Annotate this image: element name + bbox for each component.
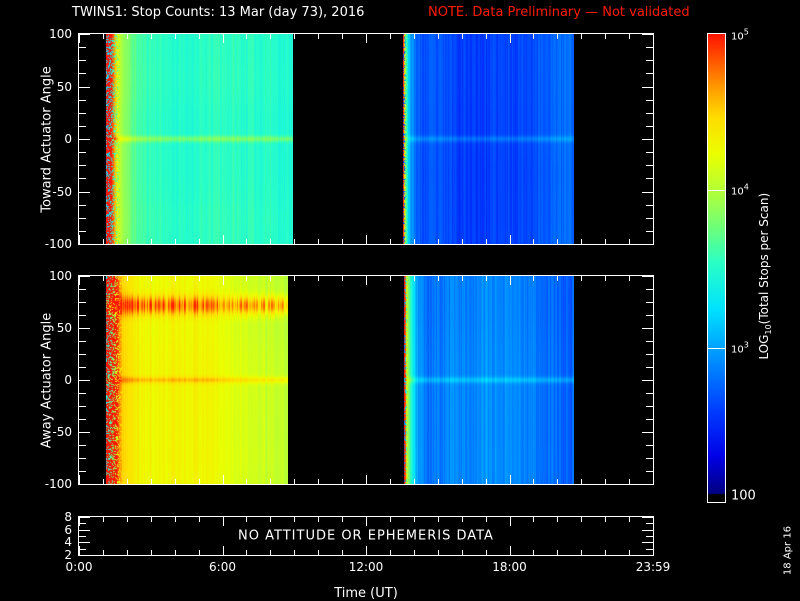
x-axis-tick-minor (103, 550, 104, 555)
y-axis-tick-minor (646, 152, 653, 153)
x-axis-tick-label: 18:00 (492, 560, 527, 574)
x-axis-tick-minor (294, 239, 295, 244)
x-axis-tick-minor (462, 34, 463, 39)
x-axis-tick-minor (270, 479, 271, 484)
x-axis-tick-major (223, 276, 224, 285)
x-axis-tick-label: 12:00 (349, 560, 384, 574)
y-axis-tick-major (642, 380, 653, 381)
x-axis-tick-minor (103, 479, 104, 484)
y-axis-tick-major (79, 34, 90, 35)
y-axis-tick-major (642, 484, 653, 485)
x-axis-tick-minor (127, 517, 128, 522)
x-axis-tick-minor (605, 34, 606, 39)
x-axis-tick-minor (605, 276, 606, 281)
x-axis-tick-major (79, 276, 80, 285)
x-axis-tick-minor (199, 479, 200, 484)
y-axis-tick-minor (646, 231, 653, 232)
x-axis-tick-minor (605, 479, 606, 484)
x-axis-tick-minor (533, 34, 534, 39)
y-axis-tick-minor (79, 406, 86, 407)
y-axis-tick-major (79, 244, 90, 245)
panel-away (78, 275, 654, 485)
x-axis-tick-major (510, 276, 511, 285)
y-axis-tick-minor (79, 393, 86, 394)
y-axis-tick-label: 100 (32, 269, 72, 283)
y-axis-tick-minor (79, 445, 86, 446)
x-axis-tick-major (366, 235, 367, 244)
x-axis-tick-major (366, 517, 367, 526)
x-axis-tick-minor (151, 517, 152, 522)
x-axis-tick-minor (533, 276, 534, 281)
colorbar-tick-label: 104 (731, 183, 749, 198)
x-axis-tick-major (79, 475, 80, 484)
x-axis-tick-minor (175, 550, 176, 555)
colorbar-tick-label: 103 (731, 341, 749, 356)
y-axis-tick-minor (79, 458, 86, 459)
colorbar-tick-label: 105 (731, 28, 749, 43)
y-axis-tick-label: -50 (32, 185, 72, 199)
x-axis-tick-minor (533, 550, 534, 555)
y-axis-tick-major (642, 328, 653, 329)
x-axis-tick-minor (246, 479, 247, 484)
y-axis-tick-minor (646, 113, 653, 114)
colorbar-title-rest: (Total Stops per Scan) (757, 193, 771, 324)
x-axis-tick-minor (151, 239, 152, 244)
x-axis-tick-minor (629, 550, 630, 555)
y-axis-tick-major (642, 139, 653, 140)
y-axis-tick-major (79, 517, 90, 518)
y-axis-tick-minor (646, 73, 653, 74)
x-axis-tick-label: 23:59 (636, 560, 671, 574)
x-axis-tick-minor (557, 550, 558, 555)
panel-attitude-strip: NO ATTITUDE OR EPHEMERIS DATA (78, 516, 654, 556)
x-axis-tick-minor (581, 239, 582, 244)
y-axis-tick-major (642, 517, 653, 518)
y-axis-tick-minor (79, 419, 86, 420)
x-axis-tick-minor (438, 517, 439, 522)
x-axis-tick-minor (581, 550, 582, 555)
x-axis-tick-minor (438, 239, 439, 244)
y-axis-tick-minor (646, 126, 653, 127)
x-axis-tick-minor (581, 517, 582, 522)
x-axis-tick-major (223, 475, 224, 484)
y-axis-tick-minor (646, 315, 653, 316)
x-axis-tick-major (653, 235, 654, 244)
y-axis-tick-minor (646, 471, 653, 472)
x-axis-tick-minor (246, 517, 247, 522)
y-axis-tick-minor (79, 218, 86, 219)
x-axis-tick-major (223, 34, 224, 43)
colorbar (707, 33, 726, 503)
x-axis-tick-minor (414, 479, 415, 484)
x-axis-tick-minor (533, 479, 534, 484)
x-axis-tick-minor (414, 239, 415, 244)
x-axis-tick-major (510, 34, 511, 43)
x-axis-tick-minor (438, 276, 439, 281)
x-axis-tick-minor (486, 479, 487, 484)
x-axis-tick-minor (294, 479, 295, 484)
x-axis-tick-major (653, 34, 654, 43)
x-axis-tick-minor (151, 276, 152, 281)
y-axis-tick-major (79, 484, 90, 485)
y-axis-tick-minor (79, 178, 86, 179)
x-axis-tick-major (510, 235, 511, 244)
strip-message: NO ATTITUDE OR EPHEMERIS DATA (238, 529, 494, 544)
x-axis-tick-minor (390, 479, 391, 484)
y-axis-tick-major (79, 276, 90, 277)
x-axis-tick-minor (462, 239, 463, 244)
x-axis-tick-minor (199, 517, 200, 522)
spectrogram-block (404, 276, 574, 484)
x-axis-tick-minor (246, 34, 247, 39)
y-axis-tick-major (79, 139, 90, 140)
x-axis-tick-minor (581, 276, 582, 281)
date-stamp: 18 Apr 16 (783, 511, 794, 591)
y-axis-tick-label: -50 (32, 425, 72, 439)
y-axis-tick-minor (646, 60, 653, 61)
x-axis-tick-minor (270, 517, 271, 522)
x-axis-tick-minor (557, 239, 558, 244)
y-axis-tick-minor (646, 393, 653, 394)
x-axis-tick-minor (629, 479, 630, 484)
y-axis-tick-minor (646, 523, 653, 524)
y-axis-tick-label: 0 (32, 373, 72, 387)
x-axis-tick-minor (175, 276, 176, 281)
x-axis-tick-minor (557, 517, 558, 522)
x-axis-tick-minor (318, 239, 319, 244)
x-axis-tick-major (653, 546, 654, 555)
x-axis-tick-minor (414, 517, 415, 522)
y-axis-tick-minor (646, 419, 653, 420)
x-axis-tick-minor (629, 239, 630, 244)
x-axis-tick-minor (342, 276, 343, 281)
x-axis-tick-major (223, 235, 224, 244)
spectrogram-block (106, 34, 293, 244)
x-axis-tick-minor (414, 34, 415, 39)
y-axis-tick-major (79, 328, 90, 329)
xaxis-label: Time (UT) (334, 586, 398, 601)
x-axis-tick-minor (462, 479, 463, 484)
x-axis-tick-major (223, 546, 224, 555)
y-axis-tick-label: 2 (52, 548, 72, 562)
x-axis-tick-minor (390, 276, 391, 281)
x-axis-tick-major (223, 517, 224, 526)
x-axis-tick-minor (294, 276, 295, 281)
y-axis-tick-minor (79, 152, 86, 153)
x-axis-tick-minor (199, 550, 200, 555)
y-axis-tick-major (642, 87, 653, 88)
y-axis-tick-minor (646, 302, 653, 303)
y-axis-tick-label: 50 (32, 80, 72, 94)
page-title: TWINS1: Stop Counts: 13 Mar (day 73), 20… (72, 5, 364, 20)
x-axis-tick-minor (414, 550, 415, 555)
x-axis-tick-minor (462, 517, 463, 522)
x-axis-tick-minor (629, 34, 630, 39)
x-axis-tick-minor (605, 239, 606, 244)
y-axis-tick-minor (79, 60, 86, 61)
y-axis-tick-minor (646, 165, 653, 166)
x-axis-tick-minor (557, 479, 558, 484)
x-axis-tick-minor (199, 239, 200, 244)
x-axis-tick-major (366, 546, 367, 555)
x-axis-tick-major (79, 546, 80, 555)
y-axis-tick-major (79, 192, 90, 193)
y-axis-tick-minor (646, 178, 653, 179)
y-axis-tick-minor (79, 549, 86, 550)
x-axis-tick-minor (246, 239, 247, 244)
y-axis-tick-minor (79, 302, 86, 303)
y-axis-tick-minor (646, 205, 653, 206)
y-axis-tick-minor (646, 47, 653, 48)
x-axis-tick-minor (270, 550, 271, 555)
x-axis-tick-minor (629, 517, 630, 522)
x-axis-tick-minor (103, 517, 104, 522)
x-axis-tick-minor (127, 34, 128, 39)
x-axis-tick-minor (533, 517, 534, 522)
x-axis-tick-minor (557, 34, 558, 39)
y-axis-tick-label: 0 (32, 132, 72, 146)
x-axis-tick-minor (318, 34, 319, 39)
x-axis-tick-minor (175, 239, 176, 244)
colorbar-tick-label: 100 (731, 489, 756, 504)
x-axis-tick-major (79, 517, 80, 526)
x-axis-tick-minor (127, 276, 128, 281)
x-axis-tick-minor (390, 239, 391, 244)
x-axis-tick-minor (581, 34, 582, 39)
y-axis-tick-label: 100 (32, 27, 72, 41)
x-axis-tick-minor (318, 517, 319, 522)
x-axis-tick-minor (486, 34, 487, 39)
x-axis-tick-minor (318, 276, 319, 281)
y-axis-tick-minor (79, 47, 86, 48)
y-axis-tick-minor (79, 113, 86, 114)
spectrogram-block (403, 34, 574, 244)
x-axis-tick-minor (270, 276, 271, 281)
y-axis-tick-minor (79, 523, 86, 524)
y-axis-tick-minor (646, 458, 653, 459)
y-axis-tick-major (642, 555, 653, 556)
x-axis-tick-minor (175, 479, 176, 484)
y-axis-tick-minor (646, 367, 653, 368)
x-axis-tick-minor (103, 34, 104, 39)
x-axis-tick-minor (557, 276, 558, 281)
x-axis-tick-minor (175, 34, 176, 39)
x-axis-tick-minor (486, 239, 487, 244)
x-axis-tick-minor (318, 479, 319, 484)
x-axis-tick-minor (270, 239, 271, 244)
y-axis-tick-major (79, 530, 90, 531)
y-axis-tick-major (642, 432, 653, 433)
x-axis-tick-major (510, 475, 511, 484)
x-axis-tick-minor (390, 517, 391, 522)
y-axis-tick-minor (646, 536, 653, 537)
y-axis-tick-minor (79, 341, 86, 342)
x-axis-tick-minor (390, 34, 391, 39)
y-axis-tick-minor (646, 549, 653, 550)
x-axis-tick-major (366, 276, 367, 285)
y-axis-tick-minor (646, 289, 653, 290)
y-axis-tick-minor (79, 205, 86, 206)
x-axis-tick-major (510, 517, 511, 526)
x-axis-tick-minor (342, 517, 343, 522)
x-axis-tick-minor (246, 550, 247, 555)
y-axis-tick-major (642, 34, 653, 35)
y-axis-tick-major (79, 432, 90, 433)
x-axis-tick-minor (294, 34, 295, 39)
y-axis-tick-minor (646, 445, 653, 446)
y-axis-tick-minor (79, 289, 86, 290)
y-axis-tick-major (642, 244, 653, 245)
x-axis-tick-minor (629, 276, 630, 281)
y-axis-tick-major (79, 87, 90, 88)
y-axis-tick-minor (79, 231, 86, 232)
y-axis-tick-minor (79, 354, 86, 355)
x-axis-tick-minor (342, 239, 343, 244)
x-axis-tick-minor (342, 34, 343, 39)
x-axis-tick-minor (486, 550, 487, 555)
x-axis-tick-major (79, 34, 80, 43)
x-axis-tick-minor (438, 550, 439, 555)
x-axis-tick-minor (414, 276, 415, 281)
y-axis-tick-major (642, 192, 653, 193)
colorbar-title-sub: 10 (764, 324, 773, 334)
y-axis-tick-major (79, 555, 90, 556)
plot-canvas: TWINS1: Stop Counts: 13 Mar (day 73), 20… (0, 0, 800, 600)
x-axis-tick-major (653, 517, 654, 526)
x-axis-tick-minor (533, 239, 534, 244)
y-axis-tick-label: -100 (32, 237, 72, 251)
x-axis-tick-major (653, 475, 654, 484)
y-axis-tick-minor (79, 536, 86, 537)
x-axis-tick-minor (151, 34, 152, 39)
x-axis-tick-minor (103, 276, 104, 281)
x-axis-tick-minor (151, 479, 152, 484)
x-axis-tick-minor (486, 517, 487, 522)
x-axis-tick-minor (294, 517, 295, 522)
y-axis-tick-minor (79, 367, 86, 368)
x-axis-tick-minor (199, 276, 200, 281)
x-axis-tick-major (366, 475, 367, 484)
x-axis-tick-minor (127, 479, 128, 484)
x-axis-tick-minor (294, 550, 295, 555)
panel-toward (78, 33, 654, 245)
x-axis-tick-minor (151, 550, 152, 555)
y-axis-tick-major (642, 530, 653, 531)
x-axis-tick-major (510, 546, 511, 555)
x-axis-tick-minor (270, 34, 271, 39)
x-axis-tick-label: 0:00 (66, 560, 93, 574)
x-axis-tick-minor (462, 276, 463, 281)
y-axis-tick-minor (79, 315, 86, 316)
y-axis-tick-minor (646, 354, 653, 355)
y-axis-tick-label: -100 (32, 477, 72, 491)
y-axis-tick-minor (79, 471, 86, 472)
y-axis-tick-minor (646, 341, 653, 342)
y-axis-tick-major (79, 542, 90, 543)
x-axis-tick-minor (605, 550, 606, 555)
x-axis-tick-minor (127, 239, 128, 244)
y-axis-tick-minor (646, 100, 653, 101)
y-axis-tick-minor (79, 73, 86, 74)
y-axis-tick-minor (646, 218, 653, 219)
x-axis-tick-major (653, 276, 654, 285)
x-axis-tick-minor (462, 550, 463, 555)
x-axis-tick-minor (127, 550, 128, 555)
colorbar-tick (708, 348, 725, 349)
y-axis-tick-minor (79, 126, 86, 127)
y-axis-tick-major (79, 380, 90, 381)
x-axis-tick-minor (390, 550, 391, 555)
x-axis-tick-minor (438, 479, 439, 484)
y-axis-tick-minor (646, 406, 653, 407)
y-axis-tick-minor (79, 100, 86, 101)
y-axis-tick-major (642, 276, 653, 277)
preliminary-data-note: NOTE. Data Preliminary — Not validated (428, 5, 690, 20)
x-axis-tick-minor (318, 550, 319, 555)
x-axis-tick-major (79, 235, 80, 244)
x-axis-tick-minor (581, 479, 582, 484)
x-axis-tick-minor (486, 276, 487, 281)
x-axis-tick-minor (175, 517, 176, 522)
colorbar-tick (708, 190, 725, 191)
y-axis-tick-label: 50 (32, 321, 72, 335)
y-axis-tick-major (642, 542, 653, 543)
colorbar-title-base: LOG (757, 335, 771, 360)
spectrogram-block (106, 276, 288, 484)
x-axis-tick-minor (342, 479, 343, 484)
x-axis-tick-major (366, 34, 367, 43)
x-axis-tick-minor (199, 34, 200, 39)
colorbar-title: LOG10(Total Stops per Scan) (757, 161, 773, 391)
x-axis-tick-minor (342, 550, 343, 555)
x-axis-tick-label: 6:00 (209, 560, 236, 574)
x-axis-tick-minor (246, 276, 247, 281)
x-axis-tick-minor (438, 34, 439, 39)
x-axis-tick-minor (103, 239, 104, 244)
y-axis-tick-minor (79, 165, 86, 166)
x-axis-tick-minor (605, 517, 606, 522)
